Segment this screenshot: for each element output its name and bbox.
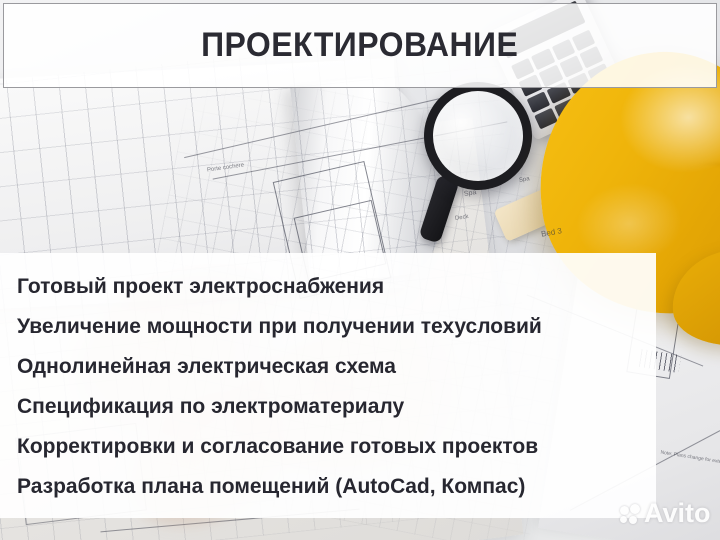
list-item: Увеличение мощности при получении техусл…	[17, 307, 656, 347]
page-title: ПРОЕКТИРОВАНИЕ	[201, 26, 518, 65]
list-item: Корректировки и согласование готовых про…	[17, 427, 656, 467]
services-list-panel: Готовый проект электроснабжения Увеличен…	[0, 253, 656, 518]
title-banner: ПРОЕКТИРОВАНИЕ	[3, 3, 717, 88]
list-item: Однолинейная электрическая схема	[17, 347, 656, 387]
list-item: Готовый проект электроснабжения	[17, 267, 656, 307]
list-item: Спецификация по электроматериалу	[17, 387, 656, 427]
slide-root: Porte cochere Spa Spa Deck Bed 3 Note: P…	[0, 0, 720, 540]
list-item: Разработка плана помещений (AutoCad, Ком…	[17, 467, 656, 507]
